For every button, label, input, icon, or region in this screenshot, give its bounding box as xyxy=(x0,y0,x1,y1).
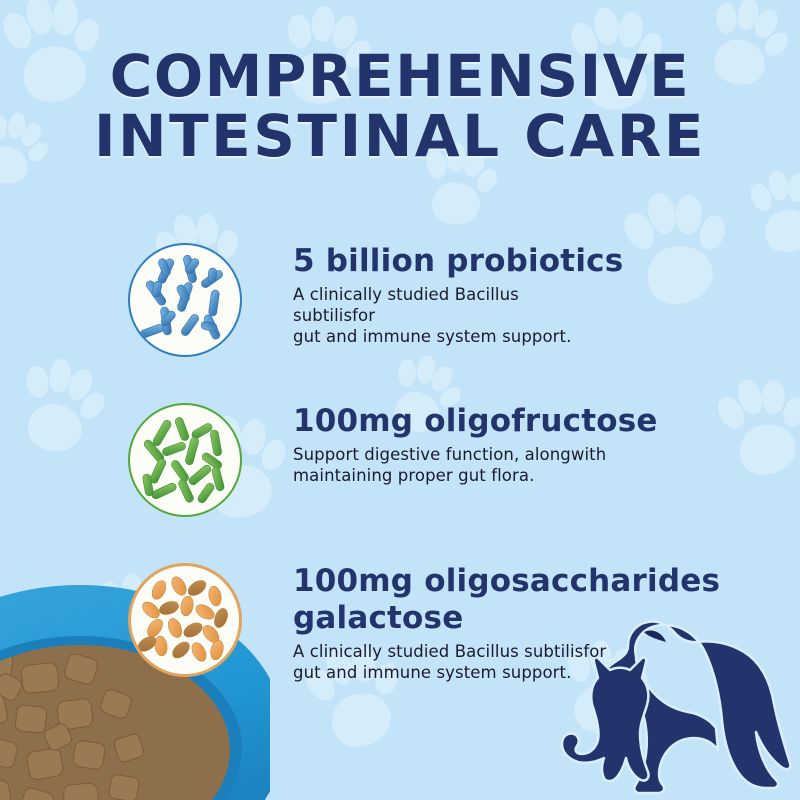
feature-text-oligofructose: 100mg oligofructose Support digestive fu… xyxy=(293,403,723,486)
body-line: subtilisfor xyxy=(293,305,723,326)
feature-text-oligosaccharides: 100mg oligosaccharides galactose A clini… xyxy=(293,563,723,683)
green-bacilli-icon xyxy=(128,403,242,517)
body-line: maintaining proper gut flora. xyxy=(293,465,723,486)
feature-body: A clinically studied Bacillus subtilisfo… xyxy=(293,641,723,683)
page-title: COMPREHENSIVE INTESTINAL CARE xyxy=(0,46,800,166)
orange-microbes-icon xyxy=(128,563,242,677)
feature-item-probiotics: 5 billion probiotics A clinically studie… xyxy=(128,243,748,363)
title-line-1: COMPREHENSIVE xyxy=(0,46,800,106)
feature-heading-line-1: 100mg oligosaccharides xyxy=(293,563,723,600)
feature-item-oligofructose: 100mg oligofructose Support digestive fu… xyxy=(128,403,748,523)
feature-text-probiotics: 5 billion probiotics A clinically studie… xyxy=(293,243,723,347)
feature-heading: 5 billion probiotics xyxy=(293,243,723,280)
feature-heading: 100mg oligofructose xyxy=(293,403,723,440)
body-line: A clinically studied Bacillus xyxy=(293,284,723,305)
body-line: gut and immune system support. xyxy=(293,662,723,683)
feature-body: Support digestive function, alongwith ma… xyxy=(293,444,723,486)
blue-bacteria-icon xyxy=(128,243,242,357)
title-line-2: INTESTINAL CARE xyxy=(0,106,800,166)
feature-heading-line-2: galactose xyxy=(293,600,723,637)
feature-body: A clinically studied Bacillus subtilisfo… xyxy=(293,284,723,347)
poster-canvas: COMPREHENSIVE INTESTINAL CARE xyxy=(0,0,800,800)
feature-item-oligosaccharides: 100mg oligosaccharides galactose A clini… xyxy=(128,563,748,703)
body-line: gut and immune system support. xyxy=(293,326,723,347)
body-line: Support digestive function, alongwith xyxy=(293,444,723,465)
body-line: A clinically studied Bacillus subtilisfo… xyxy=(293,641,723,662)
